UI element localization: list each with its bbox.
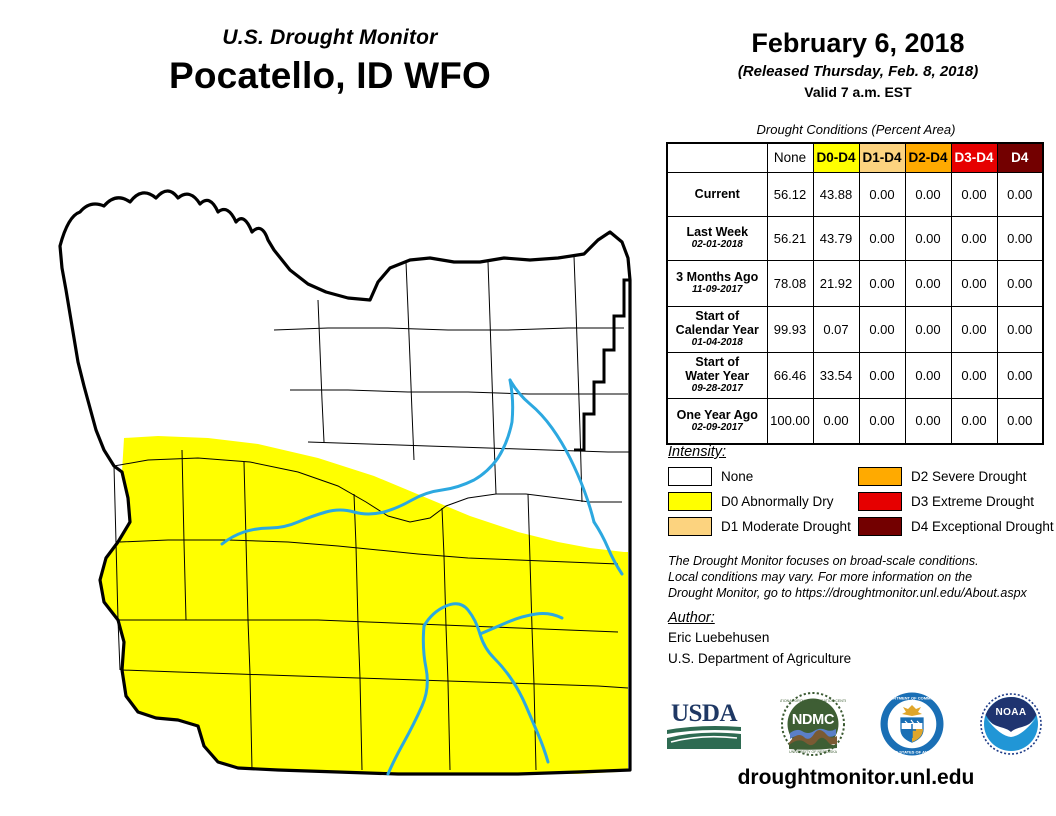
- row-label-text: Start ofCalendar Year: [668, 309, 767, 337]
- row-label-date: 02-01-2018: [668, 239, 767, 251]
- table-row: Start ofCalendar Year01-04-201899.930.07…: [667, 306, 1043, 352]
- table-cell: 0.07: [813, 306, 859, 352]
- table-cell: 0.00: [997, 306, 1043, 352]
- footer-url: droughtmonitor.unl.edu: [660, 766, 1052, 790]
- legend-swatch: [668, 492, 712, 511]
- intensity-title: Intensity:: [668, 444, 1048, 460]
- intensity-legend: Intensity: NoneD2 Severe DroughtD0 Abnor…: [668, 444, 1048, 536]
- legend-swatch: [668, 517, 712, 536]
- row-label-date: 11-09-2017: [668, 284, 767, 296]
- row-label-text: Current: [668, 187, 767, 201]
- disclaimer-note: The Drought Monitor focuses on broad-sca…: [668, 553, 1053, 601]
- table-cell: 0.00: [905, 216, 951, 260]
- legend-item-d1: D1 Moderate Drought: [668, 517, 858, 536]
- note-line-1: The Drought Monitor focuses on broad-sca…: [668, 553, 1053, 569]
- valid-time: Valid 7 a.m. EST: [660, 84, 1056, 100]
- row-label-date: 09-28-2017: [668, 383, 767, 395]
- table-cell: 0.00: [997, 398, 1043, 444]
- table-cell: 0.00: [951, 260, 997, 306]
- table-row: Current56.1243.880.000.000.000.00: [667, 172, 1043, 216]
- drought-map: [18, 150, 658, 790]
- legend-item-d3: D3 Extreme Drought: [858, 492, 1048, 511]
- table-cell: 0.00: [905, 398, 951, 444]
- table-cell: 0.00: [859, 398, 905, 444]
- table-cell: 0.00: [997, 260, 1043, 306]
- table-header-none: None: [767, 143, 813, 172]
- table-row: Start ofWater Year09-28-201766.4633.540.…: [667, 352, 1043, 398]
- svg-text:NOAA: NOAA: [995, 707, 1026, 718]
- table-cell: 0.00: [859, 352, 905, 398]
- legend-label: None: [721, 469, 753, 484]
- table-cell: 0.00: [859, 260, 905, 306]
- usda-logo: USDA: [661, 694, 747, 754]
- release-header: February 6, 2018 (Released Thursday, Feb…: [660, 28, 1056, 100]
- table-cell: 66.46: [767, 352, 813, 398]
- table-cell: 0.00: [951, 306, 997, 352]
- table-cell: 0.00: [997, 172, 1043, 216]
- legend-label: D1 Moderate Drought: [721, 519, 851, 534]
- row-label-date: 02-09-2017: [668, 422, 767, 434]
- page-title: Pocatello, ID WFO: [0, 55, 660, 97]
- table-header-row: NoneD0-D4D1-D4D2-D4D3-D4D4: [667, 143, 1043, 172]
- commerce-seal-logo: DEPARTMENT OF COMMERCE UNITED STATES OF …: [879, 691, 945, 757]
- author-block: Author: Eric Luebehusen U.S. Department …: [668, 610, 1048, 668]
- author-title: Author:: [668, 610, 1048, 626]
- row-label-text: One Year Ago: [668, 408, 767, 422]
- legend-grid: NoneD2 Severe DroughtD0 Abnormally DryD3…: [668, 467, 1048, 536]
- legend-label: D4 Exceptional Drought: [911, 519, 1054, 534]
- svg-text:NATIONAL DROUGHT MITIGATION CE: NATIONAL DROUGHT MITIGATION CENTER: [780, 699, 846, 703]
- row-label-date: 01-04-2018: [668, 337, 767, 349]
- legend-item-none: None: [668, 467, 858, 486]
- table-header-d1-d4: D1-D4: [859, 143, 905, 172]
- row-label-text: Last Week: [668, 225, 767, 239]
- table-cell: 33.54: [813, 352, 859, 398]
- table-header-d3-d4: D3-D4: [951, 143, 997, 172]
- table-cell: 0.00: [905, 352, 951, 398]
- svg-text:UNIVERSITY OF NEBRASKA: UNIVERSITY OF NEBRASKA: [789, 750, 838, 754]
- page-overline: U.S. Drought Monitor: [0, 26, 660, 50]
- table-cell: 0.00: [951, 172, 997, 216]
- table-cell: 99.93: [767, 306, 813, 352]
- logo-strip: USDA NDMC NATIONAL DROUGHT MITIGATION CE…: [655, 688, 1050, 760]
- table-corner-cell: [667, 143, 767, 172]
- legend-swatch: [858, 517, 902, 536]
- table-caption: Drought Conditions (Percent Area): [660, 122, 1052, 137]
- table-cell: 21.92: [813, 260, 859, 306]
- drought-conditions-table: NoneD0-D4D1-D4D2-D4D3-D4D4 Current56.124…: [666, 142, 1044, 445]
- row-label: Current: [667, 172, 767, 216]
- table-header-d4: D4: [997, 143, 1043, 172]
- row-label: Start ofWater Year09-28-2017: [667, 352, 767, 398]
- svg-text:USDA: USDA: [671, 700, 738, 727]
- released-date: (Released Thursday, Feb. 8, 2018): [660, 63, 1056, 80]
- legend-swatch: [858, 467, 902, 486]
- table-cell: 56.12: [767, 172, 813, 216]
- legend-label: D0 Abnormally Dry: [721, 494, 834, 509]
- table-body: Current56.1243.880.000.000.000.00Last We…: [667, 172, 1043, 444]
- table-cell: 78.08: [767, 260, 813, 306]
- svg-text:UNITED STATES OF AMERICA: UNITED STATES OF AMERICA: [883, 750, 941, 755]
- table-header-d2-d4: D2-D4: [905, 143, 951, 172]
- table-cell: 0.00: [951, 352, 997, 398]
- drought-monitor-page: U.S. Drought Monitor Pocatello, ID WFO F…: [0, 0, 1056, 816]
- author-organization: U.S. Department of Agriculture: [668, 649, 1048, 668]
- table-cell: 100.00: [767, 398, 813, 444]
- row-label-text: Start ofWater Year: [668, 355, 767, 383]
- svg-text:DEPARTMENT OF COMMERCE: DEPARTMENT OF COMMERCE: [882, 696, 941, 701]
- row-label: Last Week02-01-2018: [667, 216, 767, 260]
- map-title-block: U.S. Drought Monitor Pocatello, ID WFO: [0, 26, 660, 97]
- table-cell: 0.00: [905, 260, 951, 306]
- note-line-3: Drought Monitor, go to https://droughtmo…: [668, 585, 1053, 601]
- valid-date: February 6, 2018: [660, 28, 1056, 59]
- noaa-logo: NOAA: [978, 691, 1044, 757]
- table-cell: 0.00: [997, 216, 1043, 260]
- note-line-2: Local conditions may vary. For more info…: [668, 569, 1053, 585]
- legend-item-d2: D2 Severe Drought: [858, 467, 1048, 486]
- legend-label: D3 Extreme Drought: [911, 494, 1034, 509]
- table-row: One Year Ago02-09-2017100.000.000.000.00…: [667, 398, 1043, 444]
- ndmc-logo: NDMC NATIONAL DROUGHT MITIGATION CENTER …: [780, 691, 846, 757]
- table-cell: 43.88: [813, 172, 859, 216]
- row-label: 3 Months Ago11-09-2017: [667, 260, 767, 306]
- table-cell: 0.00: [813, 398, 859, 444]
- table-row: 3 Months Ago11-09-201778.0821.920.000.00…: [667, 260, 1043, 306]
- row-label: Start ofCalendar Year01-04-2018: [667, 306, 767, 352]
- table-cell: 0.00: [859, 216, 905, 260]
- table-cell: 56.21: [767, 216, 813, 260]
- legend-item-d0: D0 Abnormally Dry: [668, 492, 858, 511]
- table-cell: 0.00: [859, 172, 905, 216]
- legend-label: D2 Severe Drought: [911, 469, 1027, 484]
- table-cell: 0.00: [905, 306, 951, 352]
- table-cell: 0.00: [997, 352, 1043, 398]
- legend-swatch: [858, 492, 902, 511]
- legend-swatch: [668, 467, 712, 486]
- table-row: Last Week02-01-201856.2143.790.000.000.0…: [667, 216, 1043, 260]
- svg-text:NDMC: NDMC: [792, 712, 835, 728]
- table-cell: 43.79: [813, 216, 859, 260]
- row-label: One Year Ago02-09-2017: [667, 398, 767, 444]
- table-cell: 0.00: [951, 216, 997, 260]
- row-label-text: 3 Months Ago: [668, 270, 767, 284]
- legend-item-d4: D4 Exceptional Drought: [858, 517, 1048, 536]
- author-name: Eric Luebehusen: [668, 628, 1048, 647]
- table-cell: 0.00: [905, 172, 951, 216]
- table-cell: 0.00: [859, 306, 905, 352]
- table-cell: 0.00: [951, 398, 997, 444]
- table-header-d0-d4: D0-D4: [813, 143, 859, 172]
